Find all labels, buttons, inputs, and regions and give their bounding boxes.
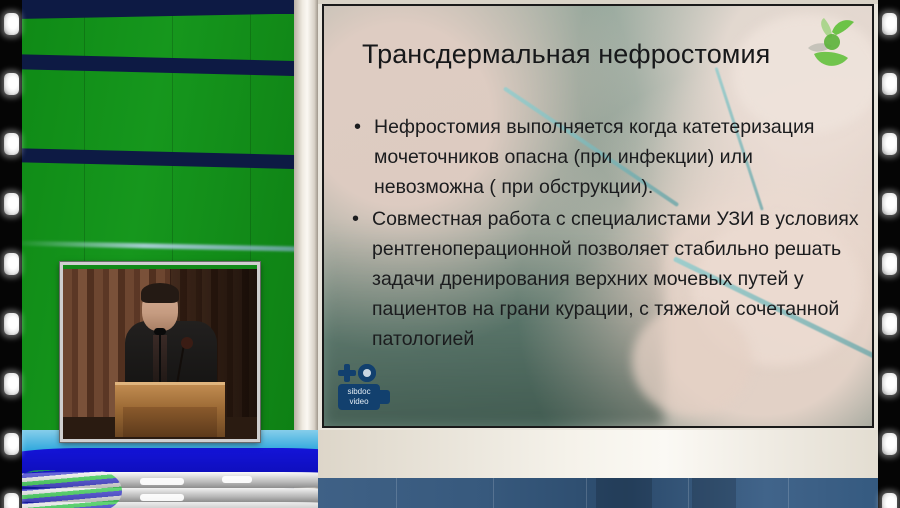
bullet-marker: • — [352, 204, 372, 354]
filmstrip-right — [878, 0, 900, 508]
bullet-text: Совместная работа с специалистами УЗИ в … — [372, 204, 864, 354]
film-sprocket-hole — [882, 493, 897, 508]
microphone-head — [181, 337, 193, 349]
film-sprocket-hole — [882, 73, 897, 95]
plus-icon — [338, 364, 356, 382]
sibdoc-video-watermark: sibdoc video — [338, 362, 390, 410]
video-camera-icon: sibdoc video — [338, 384, 380, 410]
filmstrip-left — [0, 0, 22, 508]
film-sprocket-hole — [4, 73, 19, 95]
film-sprocket-hole — [4, 133, 19, 155]
desk-highlight — [140, 494, 184, 501]
film-sprocket-hole — [4, 433, 19, 455]
film-sprocket-hole — [4, 313, 19, 335]
slide-title: Трансдермальная нефростомия — [362, 39, 862, 70]
film-sprocket-hole — [882, 13, 897, 35]
film-sprocket-hole — [4, 253, 19, 275]
desk-accent-stripes — [22, 470, 122, 508]
presentation-slide[interactable]: Трансдермальная нефростомия • Нефростоми… — [322, 4, 874, 428]
film-sprocket-hole — [4, 493, 19, 508]
bullet-marker: • — [354, 112, 374, 202]
microphone-head — [154, 328, 166, 335]
slide-panel: Трансдермальная нефростомия • Нефростоми… — [318, 0, 878, 508]
slide-bullet: • Совместная работа с специалистами УЗИ … — [352, 204, 864, 354]
film-sprocket-hole — [882, 133, 897, 155]
film-sprocket-hole — [882, 253, 897, 275]
video-top-edge — [63, 265, 257, 269]
speaker-hair — [141, 283, 179, 303]
film-sprocket-hole — [882, 373, 897, 395]
watermark-line1: sibdoc — [338, 387, 380, 397]
slide-lower-band — [318, 430, 878, 478]
podium-front-panel — [123, 407, 217, 437]
film-sprocket-hole — [882, 193, 897, 215]
video-frame: Трансдермальная нефростомия • Нефростоми… — [0, 0, 900, 508]
speaker-video-inset[interactable] — [60, 262, 260, 442]
film-sprocket-hole — [882, 313, 897, 335]
watermark-line2: video — [338, 397, 380, 407]
desk-highlight — [222, 476, 252, 483]
circle-icon — [358, 364, 376, 382]
slide-bullet-list: • Нефростомия выполняется когда катетери… — [352, 112, 864, 356]
desk-highlight — [140, 478, 184, 485]
film-sprocket-hole — [4, 373, 19, 395]
film-sprocket-hole — [4, 193, 19, 215]
film-sprocket-hole — [882, 433, 897, 455]
watermark-symbol — [338, 362, 390, 384]
microphone-stand — [159, 331, 161, 389]
slide-bullet: • Нефростомия выполняется когда катетери… — [352, 112, 864, 202]
camera-lens-icon — [380, 390, 390, 404]
bullet-text: Нефростомия выполняется когда катетериза… — [374, 112, 864, 202]
slide-bottom-blue-band — [318, 478, 878, 508]
film-sprocket-hole — [4, 13, 19, 35]
